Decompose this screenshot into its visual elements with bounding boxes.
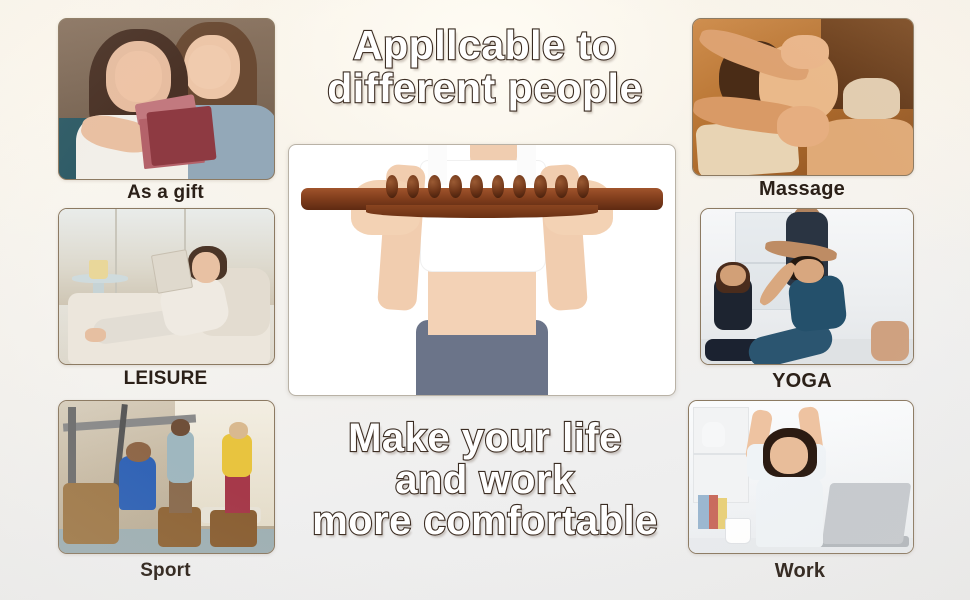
headline-line-1: Appllcable to <box>230 24 740 67</box>
caption-sport: Sport <box>58 560 273 582</box>
caption-leisure: LEISURE <box>58 368 273 390</box>
footer-tagline: Make your life and work more comfortable <box>230 418 740 543</box>
yoga-photo <box>701 209 913 364</box>
footer-line-3: more comfortable <box>230 501 740 543</box>
footer-line-1: Make your life <box>230 418 740 460</box>
page-title: Appllcable to different people <box>230 24 740 109</box>
tile-leisure <box>58 208 275 365</box>
footer-line-2: and work <box>230 460 740 502</box>
tile-yoga <box>700 208 914 365</box>
caption-massage: Massage <box>692 178 912 201</box>
product-poster: As a gift LEISURE Sport <box>0 0 970 600</box>
leisure-photo <box>59 209 274 364</box>
headline-line-2: different people <box>230 67 740 110</box>
caption-work: Work <box>688 560 912 583</box>
caption-yoga: YOGA <box>692 370 912 393</box>
caption-as-a-gift: As a gift <box>58 182 273 204</box>
product-image-panel <box>288 144 676 396</box>
